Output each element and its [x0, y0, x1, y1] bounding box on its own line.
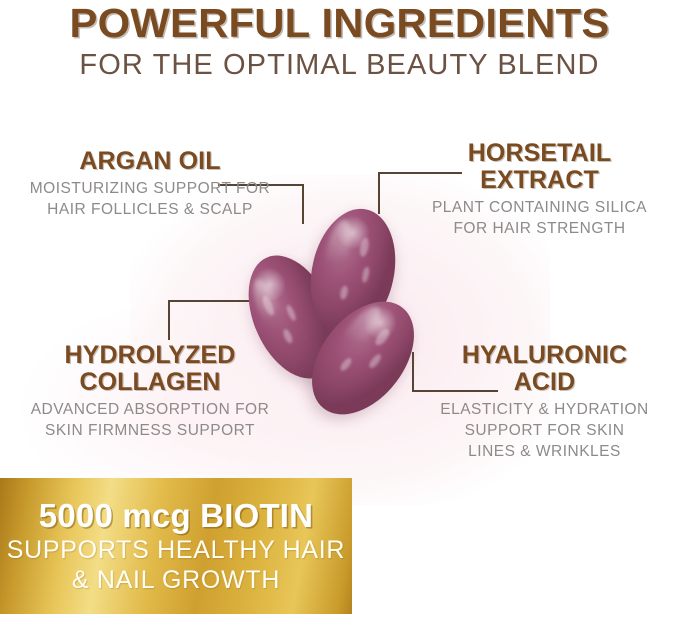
ingredient-callout-argan-oil: ARGAN OIL MOISTURIZING SUPPORT FOR HAIR …	[0, 148, 300, 220]
biotin-headline: 5000 mcg BIOTIN	[39, 497, 313, 535]
description-line: ELASTICITY & HYDRATION	[410, 399, 679, 420]
ingredient-callout-hydrolyzed-collagen: HYDROLYZED COLLAGEN ADVANCED ABSORPTION …	[0, 342, 300, 441]
ingredient-description-hydrolyzed-collagen: ADVANCED ABSORPTION FOR SKIN FIRMNESS SU…	[0, 399, 300, 441]
name-line: EXTRACT	[400, 167, 679, 194]
biotin-banner: 5000 mcg BIOTIN SUPPORTS HEALTHY HAIR & …	[0, 478, 352, 614]
connector-collagen-vertical	[168, 300, 170, 340]
description-line: FOR HAIR STRENGTH	[400, 218, 679, 239]
page-header: POWERFUL INGREDIENTS FOR THE OPTIMAL BEA…	[0, 0, 679, 82]
page-title: POWERFUL INGREDIENTS	[0, 0, 679, 46]
ingredient-name-hydrolyzed-collagen: HYDROLYZED COLLAGEN	[0, 342, 300, 396]
name-line: ACID	[410, 369, 679, 396]
connector-collagen-horizontal	[168, 300, 254, 302]
capsule-highlight	[339, 285, 349, 300]
biotin-subtext-line: & NAIL GROWTH	[7, 565, 345, 595]
description-line: HAIR FOLLICLES & SCALP	[0, 199, 300, 220]
capsule-highlight	[374, 327, 393, 348]
ingredient-name-horsetail-extract: HORSETAIL EXTRACT	[400, 140, 679, 194]
page-subtitle: FOR THE OPTIMAL BEAUTY BLEND	[0, 48, 679, 82]
biotin-subtext-line: SUPPORTS HEALTHY HAIR	[7, 535, 345, 565]
ingredient-description-argan-oil: MOISTURIZING SUPPORT FOR HAIR FOLLICLES …	[0, 178, 300, 220]
capsule-highlight	[338, 356, 353, 373]
ingredient-callout-hyaluronic-acid: HYALURONIC ACID ELASTICITY & HYDRATION S…	[410, 342, 679, 462]
description-line: MOISTURIZING SUPPORT FOR	[0, 178, 300, 199]
name-line: COLLAGEN	[0, 369, 300, 396]
description-line: ADVANCED ABSORPTION FOR	[0, 399, 300, 420]
ingredient-callout-horsetail-extract: HORSETAIL EXTRACT PLANT CONTAINING SILIC…	[400, 140, 679, 239]
capsule-highlight	[368, 353, 383, 369]
ingredient-description-hyaluronic-acid: ELASTICITY & HYDRATION SUPPORT FOR SKIN …	[410, 399, 679, 462]
name-line: HORSETAIL	[400, 140, 679, 167]
description-line: LINES & WRINKLES	[410, 441, 679, 462]
description-line: SKIN FIRMNESS SUPPORT	[0, 420, 300, 441]
capsule-highlight	[260, 294, 276, 316]
description-line: SUPPORT FOR SKIN	[410, 420, 679, 441]
ingredient-name-argan-oil: ARGAN OIL	[0, 148, 300, 175]
capsule-highlight	[361, 267, 371, 283]
name-line: HYDROLYZED	[0, 342, 300, 369]
biotin-subtext: SUPPORTS HEALTHY HAIR & NAIL GROWTH	[7, 535, 345, 595]
capsule-highlight	[285, 304, 298, 322]
capsule-highlight	[358, 237, 370, 257]
name-line: HYALURONIC	[410, 342, 679, 369]
ingredient-description-horsetail-extract: PLANT CONTAINING SILICA FOR HAIR STRENGT…	[400, 197, 679, 239]
ingredient-name-hyaluronic-acid: HYALURONIC ACID	[410, 342, 679, 396]
description-line: PLANT CONTAINING SILICA	[400, 197, 679, 218]
